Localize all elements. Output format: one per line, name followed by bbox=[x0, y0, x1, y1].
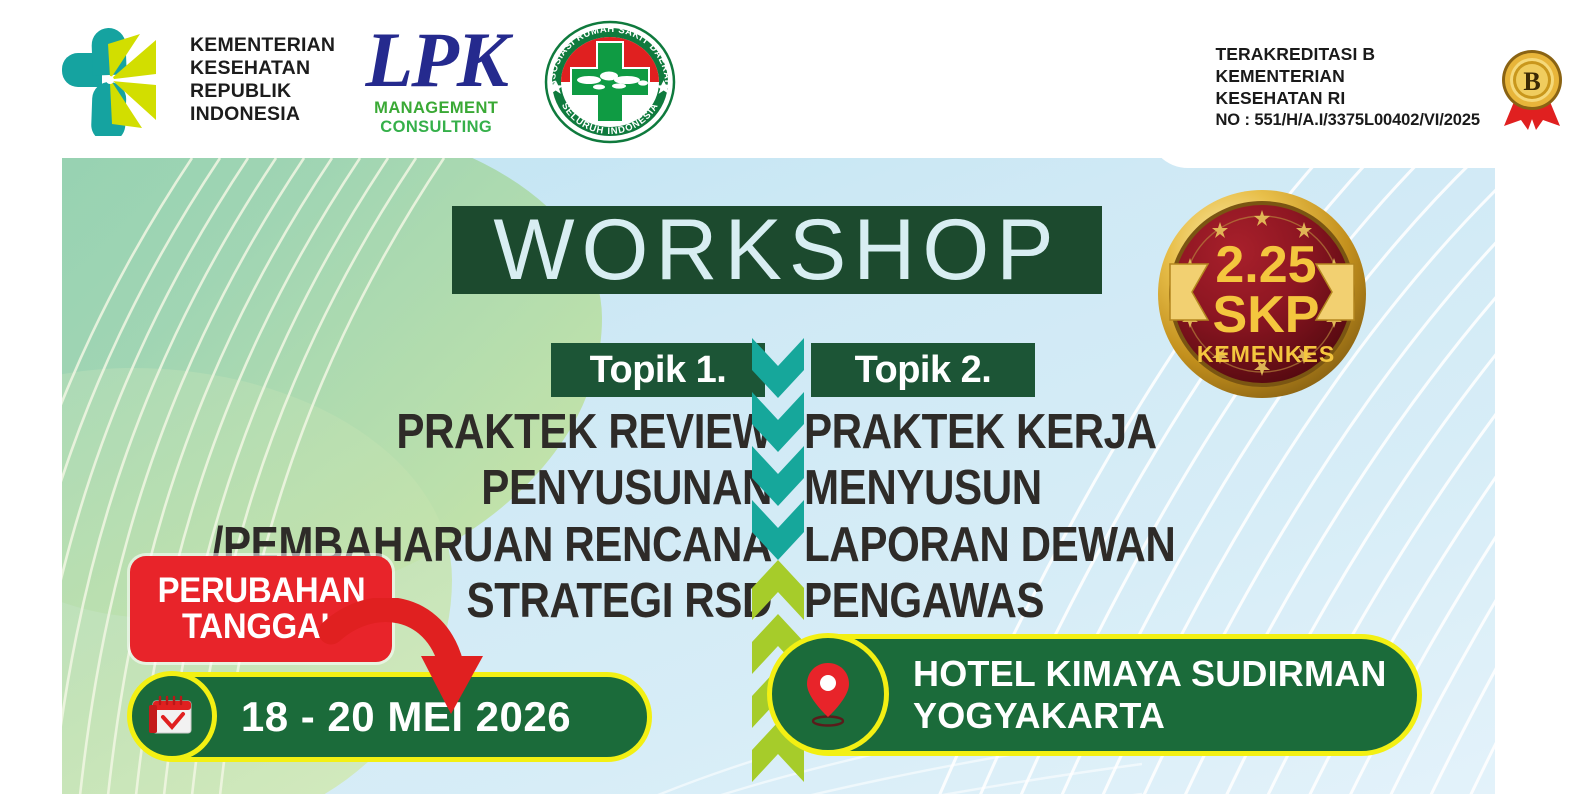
logo-group: KEMENTERIAN KESEHATAN REPUBLIK INDONESIA… bbox=[52, 14, 683, 146]
lpk-logo: LPK MANAGEMENT CONSULTING bbox=[361, 23, 511, 137]
location-pin-icon bbox=[800, 659, 856, 729]
accreditation-text-block: TERAKREDITASI B KEMENTERIAN KESEHATAN RI… bbox=[1215, 44, 1480, 130]
page-title: WORKSHOP bbox=[493, 207, 1060, 293]
lpk-subtitle-line1-text: MANAGEMENT bbox=[374, 99, 498, 117]
accreditation-line3: KESEHATAN RI bbox=[1215, 88, 1480, 110]
skp-issuer-text: KEMENKES bbox=[1197, 341, 1335, 367]
location-pin-icon-circle bbox=[767, 633, 889, 755]
poster-main-content: WORKSHOP Topik 1. Topik 2. PRAKTEK REVIE… bbox=[62, 158, 1495, 794]
accreditation-line2: KEMENTERIAN bbox=[1215, 66, 1480, 88]
curved-arrow-icon bbox=[317, 598, 497, 738]
event-venue-text: HOTEL KIMAYA SUDIRMAN YOGYAKARTA bbox=[913, 653, 1387, 737]
accreditation-number: NO : 551/H/A.I/3375L00402/VI/2025 bbox=[1215, 111, 1480, 130]
workshop-poster: KEMENTERIAN KESEHATAN REPUBLIK INDONESIA… bbox=[0, 0, 1588, 794]
kemenkes-label: KEMENTERIAN KESEHATAN REPUBLIK INDONESIA bbox=[190, 34, 335, 125]
topic-1-label-text: Topik 1. bbox=[590, 351, 727, 389]
lpk-subtitle-line1: MANAGEMENT bbox=[361, 99, 511, 118]
lpk-mark-text: LPK bbox=[361, 23, 511, 97]
skp-credit-badge: 2.25 SKP KEMENKES bbox=[1154, 186, 1370, 402]
calendar-icon bbox=[145, 689, 199, 743]
accreditation-content: TERAKREDITASI B KEMENTERIAN KESEHATAN RI… bbox=[1215, 44, 1570, 132]
calendar-icon-circle bbox=[127, 671, 217, 761]
topic-2-label-text: Topik 2. bbox=[855, 351, 992, 389]
event-venue-pill: HOTEL KIMAYA SUDIRMAN YOGYAKARTA bbox=[768, 634, 1422, 756]
arsada-logo-icon: ASOSIASI RUMAH SAKIT DAERAH SELURUH INDO… bbox=[537, 14, 683, 146]
skp-unit-text: SKP bbox=[1213, 286, 1320, 344]
lpk-subtitle-line2: CONSULTING bbox=[361, 118, 511, 137]
accreditation-line1: TERAKREDITASI B bbox=[1215, 44, 1480, 66]
workshop-title-bar: WORKSHOP bbox=[452, 206, 1102, 294]
accreditation-medal-icon: B bbox=[1494, 46, 1570, 132]
topic-2-body-text: PRAKTEK KERJA MENYUSUN LAPORAN DEWAN PEN… bbox=[804, 404, 1397, 629]
kemenkes-clover-logo-icon bbox=[52, 24, 164, 136]
medal-grade-letter: B bbox=[1523, 67, 1540, 96]
lpk-subtitle-line2-text: CONSULTING bbox=[380, 118, 492, 136]
topic-1-label-badge: Topik 1. bbox=[551, 343, 765, 397]
topic-2-label-badge: Topik 2. bbox=[811, 343, 1035, 397]
